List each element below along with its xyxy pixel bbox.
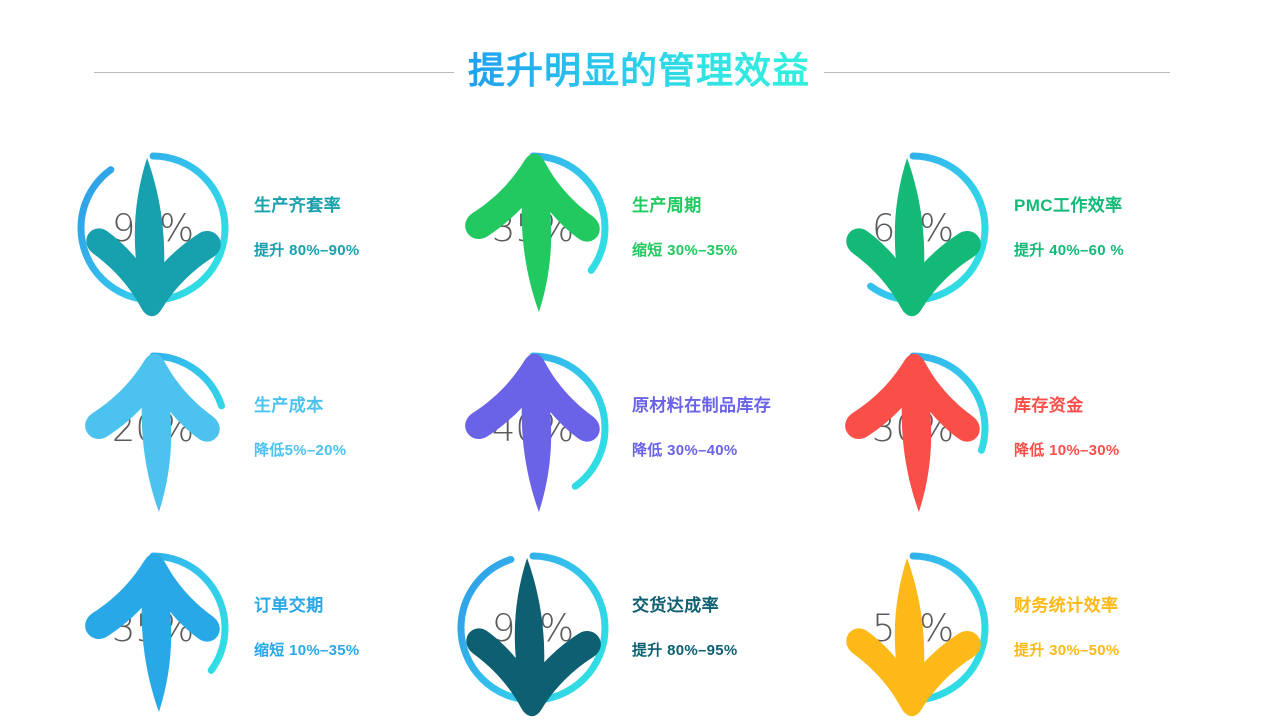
metric-detail: 缩短 30%–35%	[632, 242, 738, 260]
metric-name: 库存资金	[1014, 396, 1120, 416]
arrow-down-icon	[70, 552, 236, 718]
metrics-grid: 90%生产齐套率提升 80%–90%35%生产周期缩短 30%–35%60%PM…	[70, 128, 1210, 706]
metric-labels: 生产齐套率提升 80%–90%	[254, 196, 360, 260]
gauge-center: 35%	[450, 145, 616, 311]
metric-card[interactable]: 95%交货达成率提升 80%–95%	[450, 528, 830, 728]
gauge-center: 30%	[830, 345, 996, 511]
metric-name: 生产成本	[254, 396, 346, 416]
gauge-order-lead-time: 35%	[70, 545, 236, 711]
gauge-center: 60%	[830, 145, 996, 311]
metric-card[interactable]: 30%库存资金降低 10%–30%	[830, 328, 1210, 528]
gauge-production-kit-rate: 90%	[70, 145, 236, 311]
arrow-down-icon	[70, 352, 236, 518]
arrow-up-icon	[70, 152, 236, 318]
metric-name: 交货达成率	[632, 596, 738, 616]
arrow-up-icon	[450, 552, 616, 718]
metric-card[interactable]: 20%生产成本降低5%–20%	[70, 328, 450, 528]
metric-labels: 生产成本降低5%–20%	[254, 396, 346, 460]
metric-labels: 订单交期缩短 10%–35%	[254, 596, 360, 660]
gauge-center: 50%	[830, 545, 996, 711]
gauge-center: 20%	[70, 345, 236, 511]
metric-labels: 交货达成率提升 80%–95%	[632, 596, 738, 660]
gauge-finance-statistics-efficiency: 50%	[830, 545, 996, 711]
gauge-center: 40%	[450, 345, 616, 511]
gauge-raw-material-wip-inventory: 40%	[450, 345, 616, 511]
gauge-pmc-efficiency: 60%	[830, 145, 996, 311]
metric-card[interactable]: 40%原材料在制品库存降低 30%–40%	[450, 328, 830, 528]
metric-name: 原材料在制品库存	[632, 396, 771, 416]
metric-card[interactable]: 50%财务统计效率提升 30%–50%	[830, 528, 1210, 728]
gauge-production-cost: 20%	[70, 345, 236, 511]
arrow-down-icon	[450, 352, 616, 518]
gauge-center: 95%	[450, 545, 616, 711]
divider-right	[824, 72, 1170, 73]
metric-labels: PMC工作效率提升 40%–60 %	[1014, 196, 1124, 260]
metric-card[interactable]: 60%PMC工作效率提升 40%–60 %	[830, 128, 1210, 328]
arrow-down-icon	[450, 152, 616, 318]
gauge-delivery-achievement-rate: 95%	[450, 545, 616, 711]
metric-detail: 缩短 10%–35%	[254, 642, 360, 660]
gauge-center: 90%	[70, 145, 236, 311]
arrow-down-icon	[830, 352, 996, 518]
metric-name: 订单交期	[254, 596, 360, 616]
metric-detail: 提升 40%–60 %	[1014, 242, 1124, 260]
metric-card[interactable]: 90%生产齐套率提升 80%–90%	[70, 128, 450, 328]
metric-card[interactable]: 35%订单交期缩短 10%–35%	[70, 528, 450, 728]
gauge-inventory-capital: 30%	[830, 345, 996, 511]
metric-labels: 财务统计效率提升 30%–50%	[1014, 596, 1120, 660]
metric-detail: 降低 10%–30%	[1014, 442, 1120, 460]
metric-name: 财务统计效率	[1014, 596, 1120, 616]
gauge-center: 35%	[70, 545, 236, 711]
metric-detail: 提升 80%–90%	[254, 242, 360, 260]
metric-labels: 生产周期缩短 30%–35%	[632, 196, 738, 260]
metric-name: 生产齐套率	[254, 196, 360, 216]
metric-detail: 提升 80%–95%	[632, 642, 738, 660]
page-title: 提升明显的管理效益	[468, 52, 810, 93]
metric-name: PMC工作效率	[1014, 196, 1124, 216]
metric-detail: 降低 30%–40%	[632, 442, 771, 460]
metric-name: 生产周期	[632, 196, 738, 216]
metric-labels: 库存资金降低 10%–30%	[1014, 396, 1120, 460]
divider-left	[94, 72, 454, 73]
metric-card[interactable]: 35%生产周期缩短 30%–35%	[450, 128, 830, 328]
metric-detail: 提升 30%–50%	[1014, 642, 1120, 660]
arrow-up-icon	[830, 152, 996, 318]
gauge-production-cycle: 35%	[450, 145, 616, 311]
page-header: 提升明显的管理效益	[0, 44, 1264, 100]
metric-detail: 降低5%–20%	[254, 442, 346, 460]
arrow-up-icon	[830, 552, 996, 718]
metric-labels: 原材料在制品库存降低 30%–40%	[632, 396, 771, 460]
